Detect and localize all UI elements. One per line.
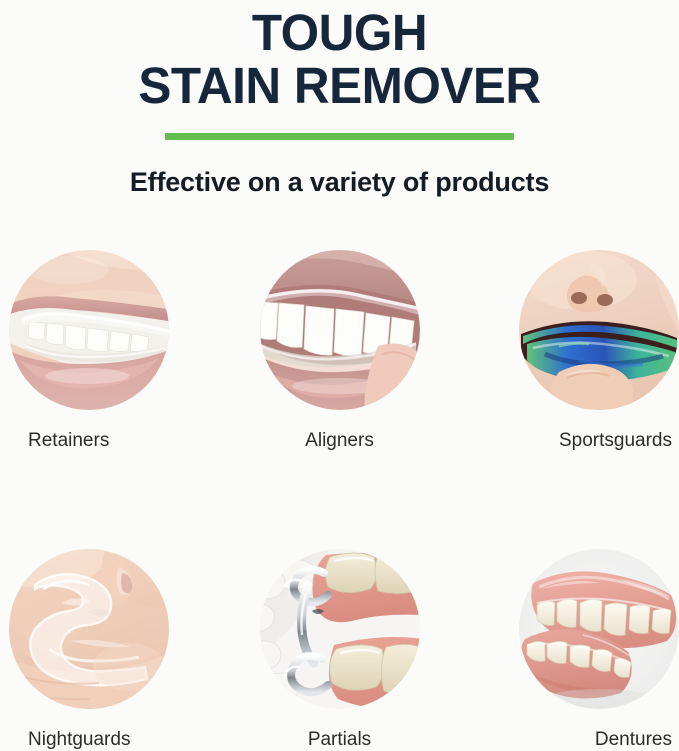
product-label-sportsguards: Sportsguards [559,430,679,452]
product-row: Nightguards [0,549,679,751]
product-label-dentures: Dentures [595,729,679,751]
photo-smile-with-clear-retainer [9,250,169,410]
product-cell-aligners[interactable]: Aligners [227,250,453,452]
page-subtitle: Effective on a variety of products [0,166,679,198]
header-block: TOUGH STAIN REMOVER Effective on a varie… [0,0,679,198]
photo-mouth-inserting-green-blue-sportsguard [519,250,679,410]
product-cell-sportsguards[interactable]: Sportsguards [453,250,679,452]
divider-wrapper [0,133,679,140]
product-cell-retainers[interactable]: Retainers [0,250,226,452]
product-label-partials: Partials [308,729,371,751]
photo-full-dentures-pink-gums [519,549,679,709]
photo-partial-denture-with-metal-clasps [260,549,420,709]
product-cell-nightguards[interactable]: Nightguards [0,549,226,751]
page-title: TOUGH STAIN REMOVER [10,6,669,112]
product-row: Retainers [0,250,679,452]
photo-clear-nightguard-in-palm [9,549,169,709]
green-divider [165,133,514,140]
product-label-retainers: Retainers [9,430,109,452]
product-label-aligners: Aligners [305,430,374,452]
product-cell-dentures[interactable]: Dentures [453,549,679,751]
product-label-nightguards: Nightguards [9,729,130,751]
page-title-line-2: STAIN REMOVER [10,59,669,112]
product-grid: Retainers [0,250,679,751]
page-title-line-1: TOUGH [10,6,669,59]
photo-teeth-with-clear-aligner [260,250,420,410]
product-cell-partials[interactable]: Partials [227,549,453,751]
